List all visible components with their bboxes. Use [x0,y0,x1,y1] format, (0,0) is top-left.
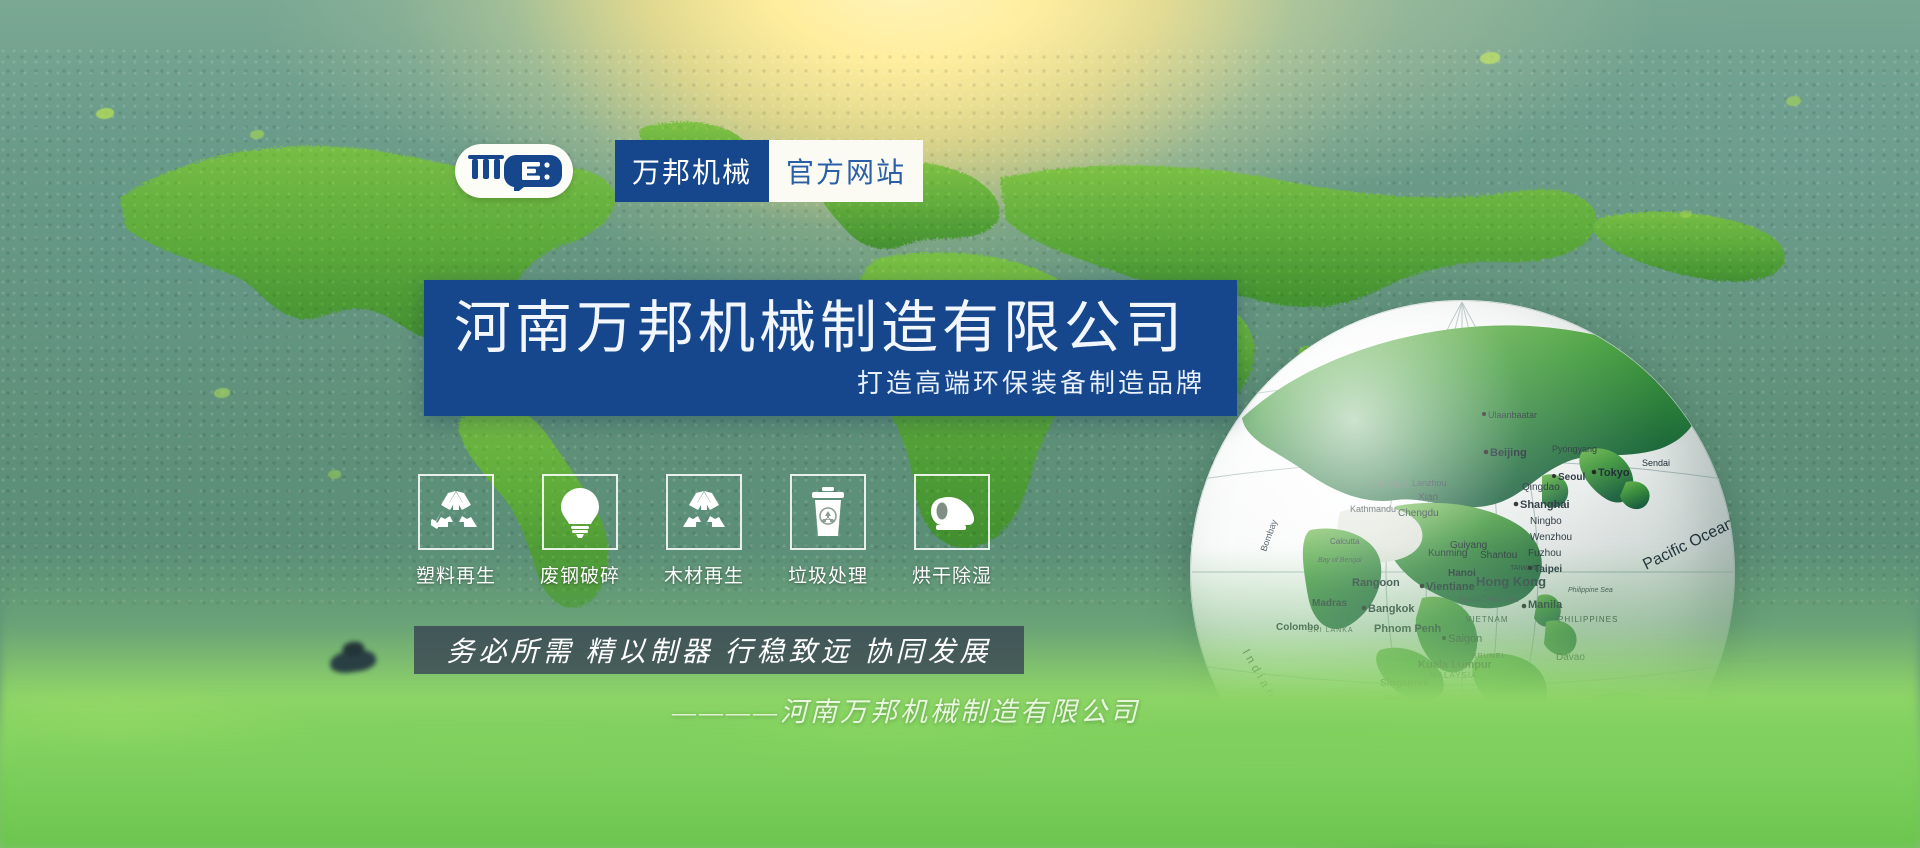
svg-text:Seoul: Seoul [1558,472,1585,483]
service-label: 塑料再生 [416,561,496,588]
page-title: 河南万邦机械制造有限公司 [454,300,1186,357]
slogan-bar: 务必所需 精以制器 行稳致远 协同发展 [414,626,1024,674]
service-item-scrap-steel-crushing[interactable]: 废钢破碎 [542,474,618,588]
header-brand-tab[interactable]: 万邦机械 [615,140,769,202]
svg-text:Lanzhou: Lanzhou [1412,478,1447,488]
lightbulb-icon [558,486,602,538]
service-label: 烘干除湿 [912,561,992,588]
service-item-wood-recycling[interactable]: 木材再生 [666,474,742,588]
service-icon-box [790,474,866,550]
wanbang-wb-logo[interactable] [455,144,573,198]
svg-text:Kathmandu: Kathmandu [1350,504,1396,514]
service-label: 木材再生 [664,561,744,588]
recycle-icon [431,487,481,537]
svg-text:Xian: Xian [1418,492,1438,503]
hero-banner: Ulaanbaatar Beijing Seoul Tokyo Sendai P… [0,0,1920,848]
service-icon-box [914,474,990,550]
header-brand-label: 万邦机械 [632,151,752,191]
recycle-icon [679,487,729,537]
svg-text:Ningbo: Ningbo [1530,516,1562,527]
hero-title-panel: 河南万邦机械制造有限公司 打造高端环保装备制造品牌 [424,280,1237,416]
svg-text:Chengdu: Chengdu [1398,508,1439,519]
header-site-label: 官方网站 [786,151,906,191]
svg-text:Shanghai: Shanghai [1520,499,1570,511]
service-item-waste-treatment[interactable]: 垃圾处理 [790,474,866,588]
slogan-signature: ————河南万邦机械制造有限公司 [672,690,1140,729]
trash-bin-icon [809,486,847,538]
svg-text:CHINA: CHINA [1370,480,1411,491]
svg-text:Qingdao: Qingdao [1522,482,1560,493]
service-icon-box [418,474,494,550]
svg-text:Beijing: Beijing [1490,447,1527,459]
service-item-plastic-recycling[interactable]: 塑料再生 [418,474,494,588]
header-site-tab[interactable]: 官方网站 [769,140,923,202]
slogan-text: 务必所需 精以制器 行稳致远 协同发展 [446,630,991,670]
svg-text:Wenzhou: Wenzhou [1530,532,1572,543]
svg-text:Pyongyang: Pyongyang [1552,444,1597,454]
page-subtitle: 打造高端环保装备制造品牌 [857,363,1205,400]
site-header: 万邦机械 官方网站 [455,140,923,202]
service-item-drying-dehumidifying[interactable]: 烘干除湿 [914,474,990,588]
svg-text:Tokyo: Tokyo [1598,467,1630,479]
service-icon-box [666,474,742,550]
service-icon-row: 塑料再生 废钢破碎 [418,474,990,588]
svg-text:Sendai: Sendai [1642,458,1670,468]
svg-text:Calcutta: Calcutta [1330,537,1360,546]
header-spacer [573,140,615,202]
service-label: 垃圾处理 [788,561,868,588]
svg-text:Ulaanbaatar: Ulaanbaatar [1488,410,1537,420]
service-label: 废钢破碎 [540,561,620,588]
service-icon-box [542,474,618,550]
blower-dryer-icon [926,492,978,532]
